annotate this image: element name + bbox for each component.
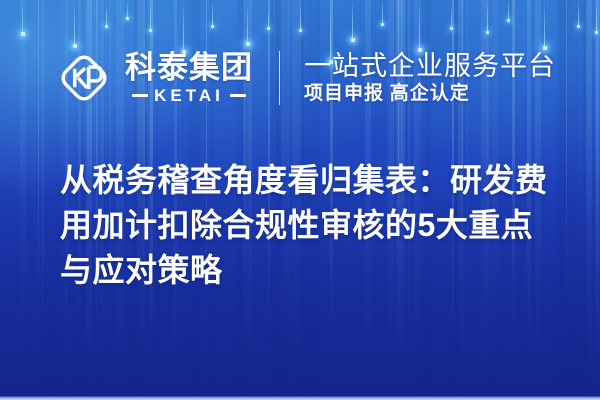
logo-company-name-en-row: KETAI [132, 87, 246, 104]
ketai-diamond-monogram-icon [55, 49, 113, 107]
banner-image: 科泰集团 KETAI 一站式企业服务平台 项目申报 高企认定 从税务稽查角度看归… [0, 0, 600, 400]
bottom-light-band [0, 396, 600, 400]
logo-dash-left-icon [132, 94, 148, 97]
headline-line-1: 从税务稽查角度看归集表：研发费 [60, 158, 560, 203]
headline-line-2: 用加计扣除合规性审核的5大重点 [60, 203, 560, 248]
logo-company-name-en: KETAI [154, 87, 224, 104]
logo-lockup[interactable]: 科泰集团 KETAI [55, 49, 253, 107]
headline-line-3: 与应对策略 [60, 248, 560, 293]
logo-wordmark: 科泰集团 KETAI [125, 52, 253, 105]
tagline-secondary: 项目申报 高企认定 [304, 84, 556, 105]
headline-block: 从税务稽查角度看归集表：研发费 用加计扣除合规性审核的5大重点 与应对策略 [60, 158, 560, 293]
tagline-block: 一站式企业服务平台 项目申报 高企认定 [304, 51, 556, 105]
logo-dash-right-icon [230, 94, 246, 97]
logo-company-name-cn: 科泰集团 [125, 52, 253, 85]
header-divider [279, 51, 280, 105]
tagline-primary: 一站式企业服务平台 [304, 51, 556, 81]
brand-header: 科泰集团 KETAI 一站式企业服务平台 项目申报 高企认定 [0, 42, 600, 114]
